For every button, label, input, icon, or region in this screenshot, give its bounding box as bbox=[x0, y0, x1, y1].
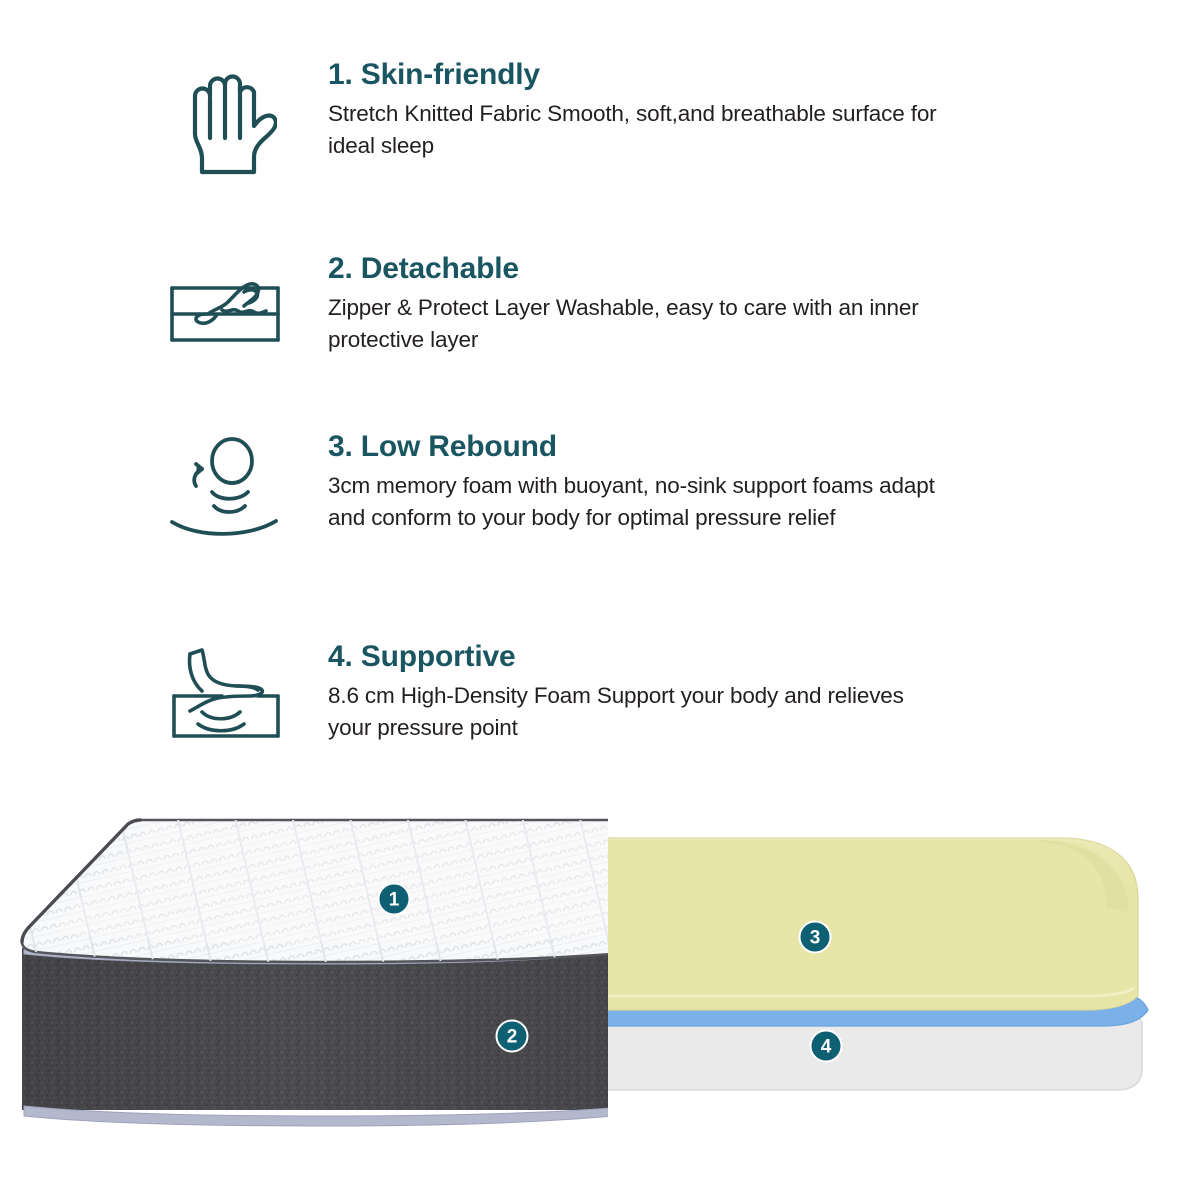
feature-text-block: 4. Supportive 8.6 cm High-Density Foam S… bbox=[290, 640, 980, 743]
feature-title: 4. Supportive bbox=[328, 640, 980, 674]
feature-description: Stretch Knitted Fabric Smooth, soft,and … bbox=[328, 98, 948, 162]
badge-3[interactable]: 3 bbox=[800, 922, 831, 953]
feature-description: 8.6 cm High-Density Foam Support your bo… bbox=[328, 680, 948, 744]
badge-1-label: 1 bbox=[389, 890, 400, 911]
badge-4[interactable]: 4 bbox=[811, 1031, 842, 1062]
badge-3-label: 3 bbox=[810, 928, 821, 949]
feature-item-low-rebound: 3. Low Rebound 3cm memory foam with buoy… bbox=[160, 430, 980, 542]
feature-text-block: 3. Low Rebound 3cm memory foam with buoy… bbox=[290, 430, 980, 533]
feature-title: 2. Detachable bbox=[328, 252, 980, 286]
feature-text-block: 2. Detachable Zipper & Protect Layer Was… bbox=[290, 252, 980, 355]
feature-list: 1. Skin-friendly Stretch Knitted Fabric … bbox=[0, 0, 1200, 800]
mattress-cutaway-illustration: 1 2 3 4 bbox=[0, 800, 1200, 1200]
feature-title: 3. Low Rebound bbox=[328, 430, 980, 464]
feature-text-block: 1. Skin-friendly Stretch Knitted Fabric … bbox=[290, 58, 980, 161]
badge-2[interactable]: 2 bbox=[497, 1021, 528, 1052]
cover-sheen bbox=[56, 826, 612, 943]
feature-description: Zipper & Protect Layer Washable, easy to… bbox=[328, 292, 948, 356]
feature-item-detachable: 2. Detachable Zipper & Protect Layer Was… bbox=[160, 252, 980, 355]
feature-title: 1. Skin-friendly bbox=[328, 58, 980, 92]
badge-4-label: 4 bbox=[821, 1037, 832, 1058]
covered-mattress-half bbox=[22, 820, 612, 1126]
feature-item-supportive: 4. Supportive 8.6 cm High-Density Foam S… bbox=[160, 640, 980, 746]
bouncing-ball-icon bbox=[160, 430, 290, 542]
hand-peeling-layer-icon bbox=[160, 252, 290, 352]
feature-item-skin-friendly: 1. Skin-friendly Stretch Knitted Fabric … bbox=[160, 58, 980, 180]
hand-palm-icon bbox=[160, 58, 290, 180]
reclining-body-support-icon bbox=[160, 640, 290, 746]
feature-description: 3cm memory foam with buoyant, no-sink su… bbox=[328, 470, 948, 534]
badge-2-label: 2 bbox=[507, 1027, 518, 1048]
badge-1[interactable]: 1 bbox=[379, 884, 410, 915]
